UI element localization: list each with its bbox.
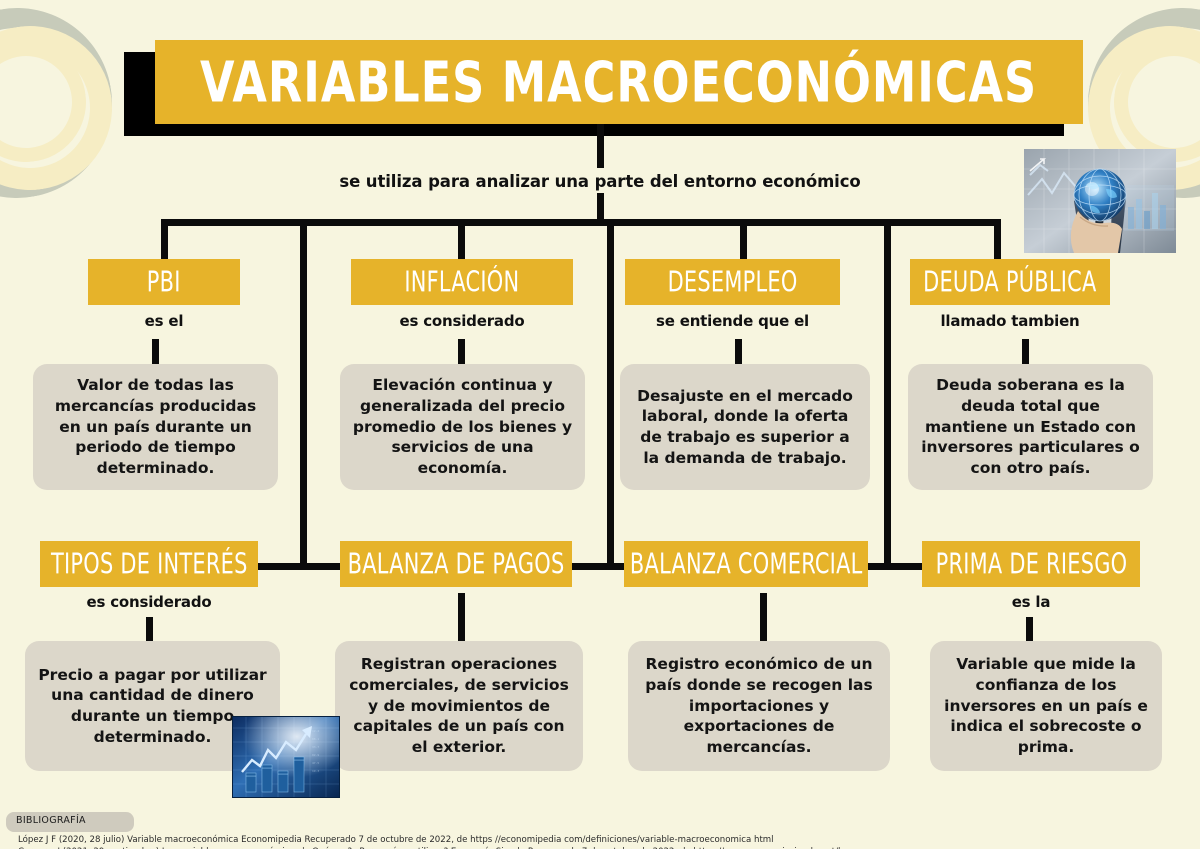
- description-box-inflacion: Elevación continua y generalizada del pr…: [340, 364, 585, 490]
- connector-drop-desc-tipos: [146, 617, 153, 643]
- stock-chart-photo: 12.408.133.7 02.947.519.3: [232, 716, 340, 798]
- category-box-prima-de-riesgo[interactable]: PRIMA DE RIESGO: [922, 541, 1140, 587]
- connector-caption-deuda-publica: llamado tambien: [910, 312, 1110, 330]
- description-box-balanza-comercial: Registro económico de un país donde se r…: [628, 641, 890, 771]
- svg-text:19.3: 19.3: [312, 769, 319, 773]
- category-box-deuda-publica[interactable]: DEUDA PÚBLICA: [910, 259, 1110, 305]
- page-title-banner: VARIABLES MACROECONÓMICAS: [155, 40, 1083, 124]
- description-box-desempleo: Desajuste en el mercado laboral, donde l…: [620, 364, 870, 490]
- category-box-pbi[interactable]: PBI: [88, 259, 240, 305]
- connector-vertical-right-spine: [884, 219, 891, 569]
- category-box-tipos-de-interes[interactable]: TIPOS DE INTERÉS: [40, 541, 258, 587]
- connector-drop-desc-pbi: [152, 339, 159, 365]
- svg-text:47.5: 47.5: [312, 761, 319, 765]
- category-box-balanza-comercial[interactable]: BALANZA COMERCIAL: [624, 541, 868, 587]
- category-label-balanza-comercial: BALANZA COMERCIAL: [630, 548, 863, 581]
- svg-text:02.9: 02.9: [312, 753, 319, 757]
- svg-text:33.7: 33.7: [312, 745, 319, 749]
- category-box-desempleo[interactable]: DESEMPLEO: [625, 259, 840, 305]
- connector-drop-desc-balanzacomercial: [760, 593, 767, 643]
- connector-caption-desempleo: se entiende que el: [625, 312, 840, 330]
- connector-link-tipos-balanzapagos: [256, 563, 346, 570]
- category-label-deuda-publica: DEUDA PÚBLICA: [923, 266, 1096, 299]
- subtitle: se utiliza para analizar una parte del e…: [0, 172, 1200, 191]
- bibliography-entries: López J F (2020, 28 julio) Variable macr…: [18, 834, 1188, 849]
- connector-drop-desc-desempleo: [735, 339, 742, 365]
- description-box-deuda-publica: Deuda soberana es la deuda total que man…: [908, 364, 1153, 490]
- category-box-inflacion[interactable]: INFLACIÓN: [351, 259, 573, 305]
- page-title: VARIABLES MACROECONÓMICAS: [200, 49, 1037, 115]
- connector-drop-desc-inflacion: [458, 339, 465, 365]
- category-box-balanza-de-pagos[interactable]: BALANZA DE PAGOS: [340, 541, 572, 587]
- connector-drop-desc-deuda: [1022, 339, 1029, 365]
- connector-caption-inflacion: es considerado: [351, 312, 573, 330]
- globe-photo: [1024, 149, 1176, 253]
- category-label-prima-de-riesgo: PRIMA DE RIESGO: [935, 548, 1127, 581]
- infographic-canvas: VARIABLES MACROECONÓMICAS se utiliza par…: [0, 0, 1200, 849]
- connector-vertical-left-spine: [300, 219, 307, 569]
- category-label-balanza-de-pagos: BALANZA DE PAGOS: [348, 548, 565, 581]
- connector-drop-desc-balanzapagos: [458, 593, 465, 643]
- svg-text:08.1: 08.1: [312, 737, 319, 741]
- bibliography-entry: López J F (2020, 28 julio) Variable macr…: [18, 834, 1188, 846]
- category-label-pbi: PBI: [147, 266, 181, 299]
- connector-drop-pbi: [161, 219, 168, 259]
- connector-title-to-subtitle: [597, 124, 604, 168]
- connector-caption-pbi: es el: [88, 312, 240, 330]
- connector-drop-deuda: [994, 219, 1001, 259]
- connector-vertical-center-spine: [607, 219, 614, 569]
- category-label-tipos-de-interes: TIPOS DE INTERÉS: [51, 548, 248, 581]
- connector-link-balanzacomercial-prima: [866, 563, 926, 570]
- connector-caption-tipos-de-interes: es considerado: [40, 593, 258, 611]
- connector-drop-desempleo: [740, 219, 747, 259]
- connector-caption-prima-de-riesgo: es la: [922, 593, 1140, 611]
- category-label-desempleo: DESEMPLEO: [668, 266, 798, 299]
- bibliography-label: BIBLIOGRAFÍA: [16, 815, 86, 826]
- category-label-inflacion: INFLACIÓN: [404, 266, 519, 299]
- connector-drop-inflacion: [458, 219, 465, 259]
- description-box-balanza-de-pagos: Registran operaciones comerciales, de se…: [335, 641, 583, 771]
- connector-drop-desc-prima: [1026, 617, 1033, 643]
- description-box-pbi: Valor de todas las mercancías producidas…: [33, 364, 278, 490]
- svg-text:12.4: 12.4: [312, 729, 319, 733]
- connector-horizontal-bus: [161, 219, 1001, 226]
- description-box-prima-de-riesgo: Variable que mide la confianza de los in…: [930, 641, 1162, 771]
